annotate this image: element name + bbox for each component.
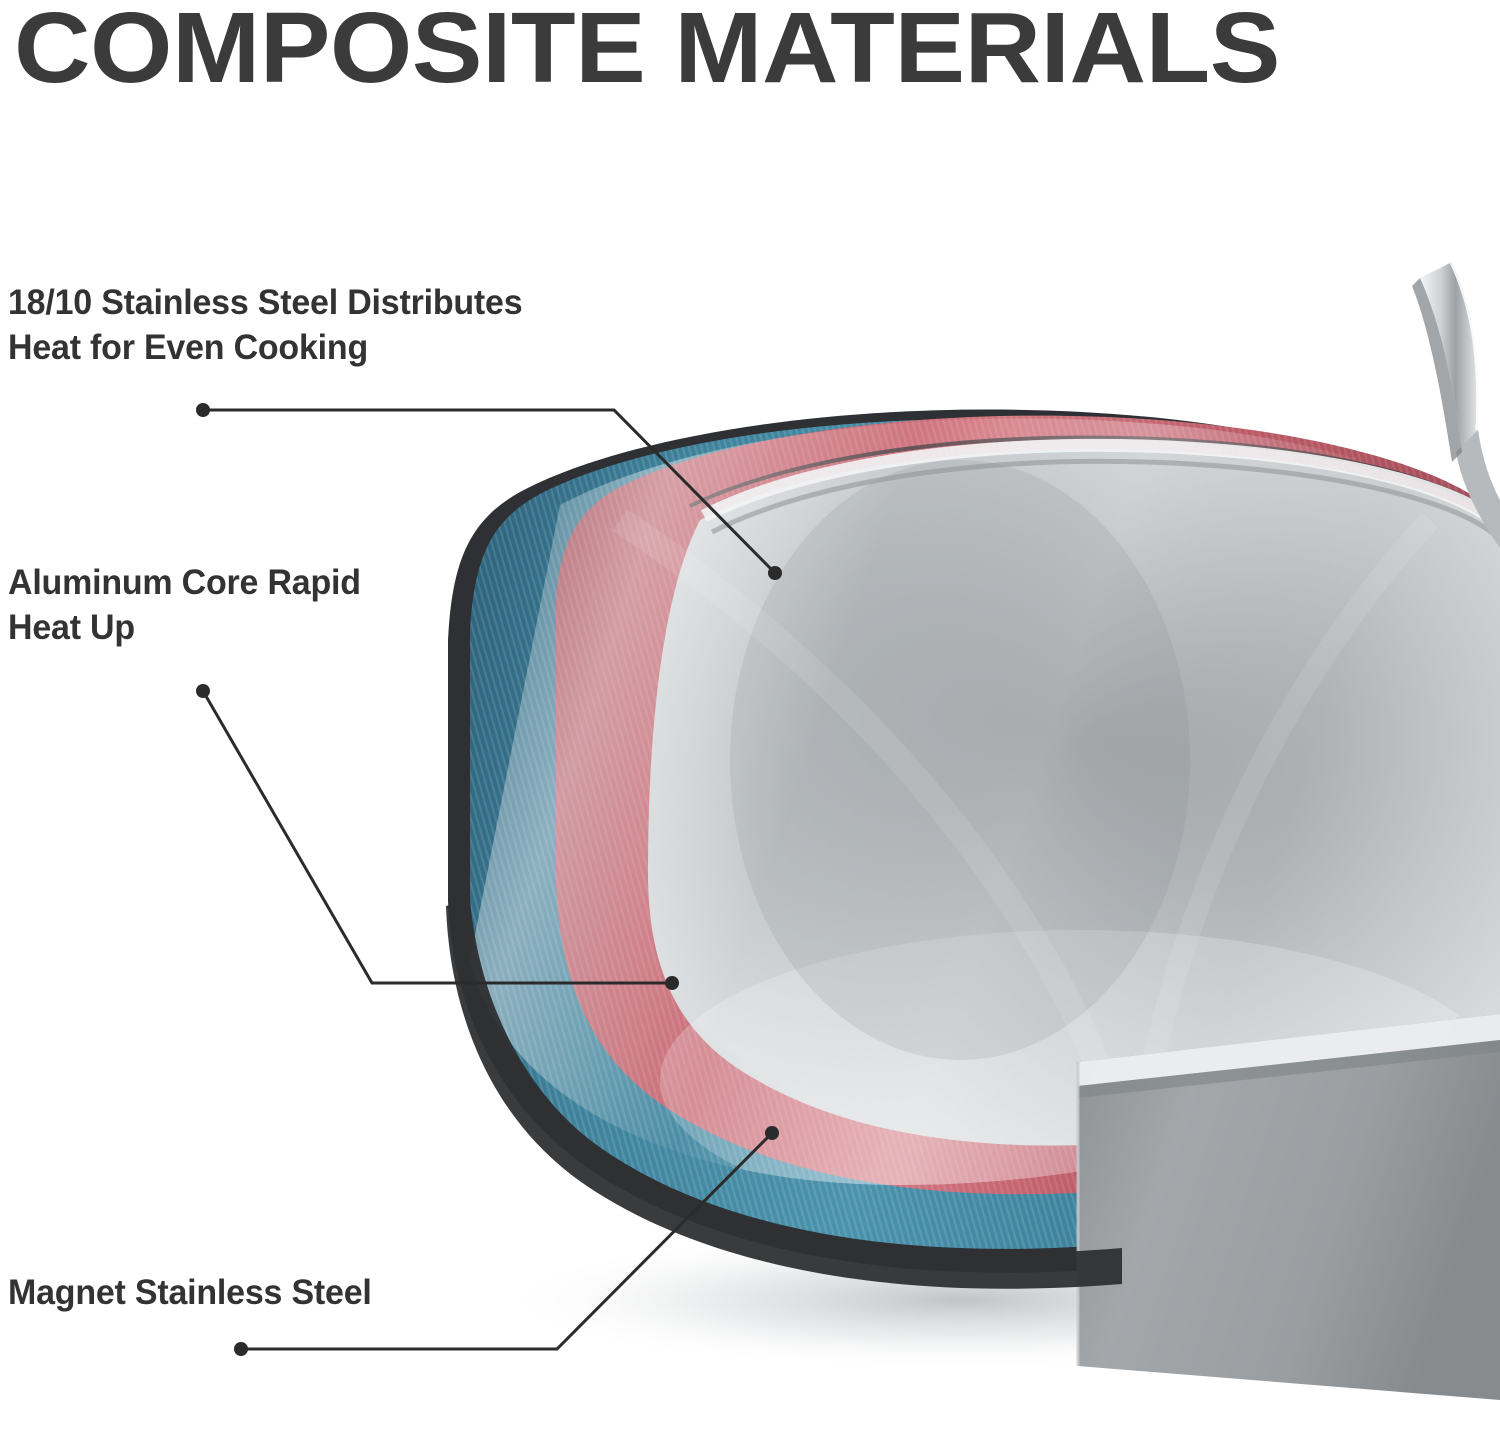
leader-line-aluminum [196, 684, 679, 990]
callout-leader-lines [0, 0, 1500, 1456]
infographic-canvas: COMPOSITE MATERIALS [0, 0, 1500, 1456]
leader-line-magnet [234, 1126, 779, 1356]
leader-line-steel [196, 403, 782, 580]
